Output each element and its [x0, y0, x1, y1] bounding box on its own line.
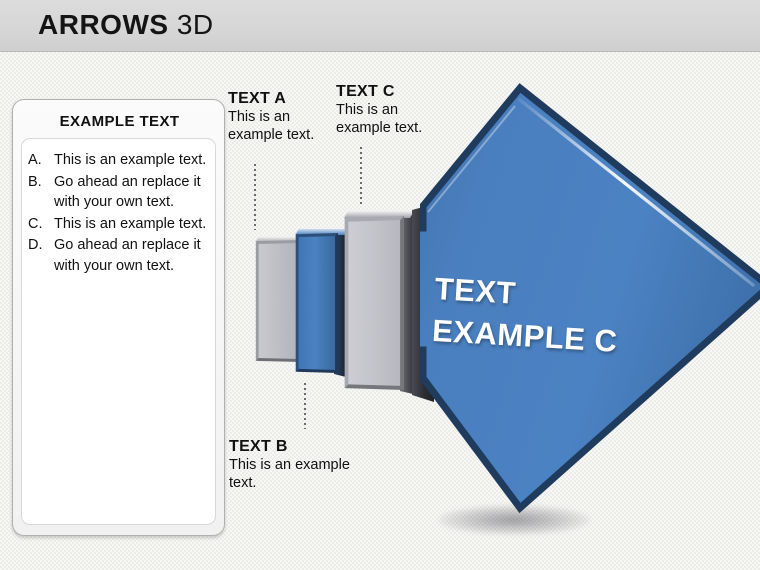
list-item-text: This is an example text.: [54, 150, 209, 171]
panel-body[interactable]: A. This is an example text. B. Go ahead …: [21, 138, 216, 525]
page-title-light: 3D: [177, 9, 214, 40]
list-item-text: Go ahead an replace it with your own tex…: [54, 235, 209, 276]
leader-line-c: [360, 147, 362, 205]
slide-canvas: ARROWS 3D EXAMPLE TEXT A. This is an exa…: [0, 0, 760, 570]
slide-header: ARROWS 3D: [0, 0, 760, 52]
panel-title: EXAMPLE TEXT: [13, 113, 226, 130]
slab-b[interactable]: [296, 233, 338, 373]
example-text-list: A. This is an example text. B. Go ahead …: [22, 139, 215, 276]
leader-line-b: [304, 383, 306, 429]
slab-c[interactable]: [345, 216, 404, 390]
example-text-panel[interactable]: EXAMPLE TEXT A. This is an example text.…: [12, 99, 225, 536]
callout-a-title: TEXT A: [228, 89, 324, 108]
callout-b-title: TEXT B: [229, 437, 377, 456]
arrow-3d-shape[interactable]: [420, 78, 760, 518]
slab-a[interactable]: [256, 240, 300, 362]
list-item-marker: D.: [28, 235, 54, 256]
list-item[interactable]: C. This is an example text.: [28, 214, 209, 235]
list-item[interactable]: A. This is an example text.: [28, 150, 209, 171]
callout-a-text: This is an example text.: [228, 108, 324, 144]
list-item-text: Go ahead an replace it with your own tex…: [54, 172, 209, 213]
callout-b-text: This is an example text.: [229, 456, 377, 492]
list-item[interactable]: B. Go ahead an replace it with your own …: [28, 172, 209, 213]
ground-shadow: [438, 505, 590, 535]
list-item-marker: C.: [28, 214, 54, 235]
list-item[interactable]: D. Go ahead an replace it with your own …: [28, 235, 209, 276]
list-item-marker: B.: [28, 172, 54, 193]
page-title: ARROWS 3D: [38, 9, 214, 41]
leader-line-a: [254, 164, 256, 230]
list-item-marker: A.: [28, 150, 54, 171]
callout-text-a[interactable]: TEXT A This is an example text.: [228, 89, 324, 144]
list-item-text: This is an example text.: [54, 214, 209, 235]
page-title-strong: ARROWS: [38, 9, 169, 40]
callout-text-b[interactable]: TEXT B This is an example text.: [229, 437, 377, 492]
